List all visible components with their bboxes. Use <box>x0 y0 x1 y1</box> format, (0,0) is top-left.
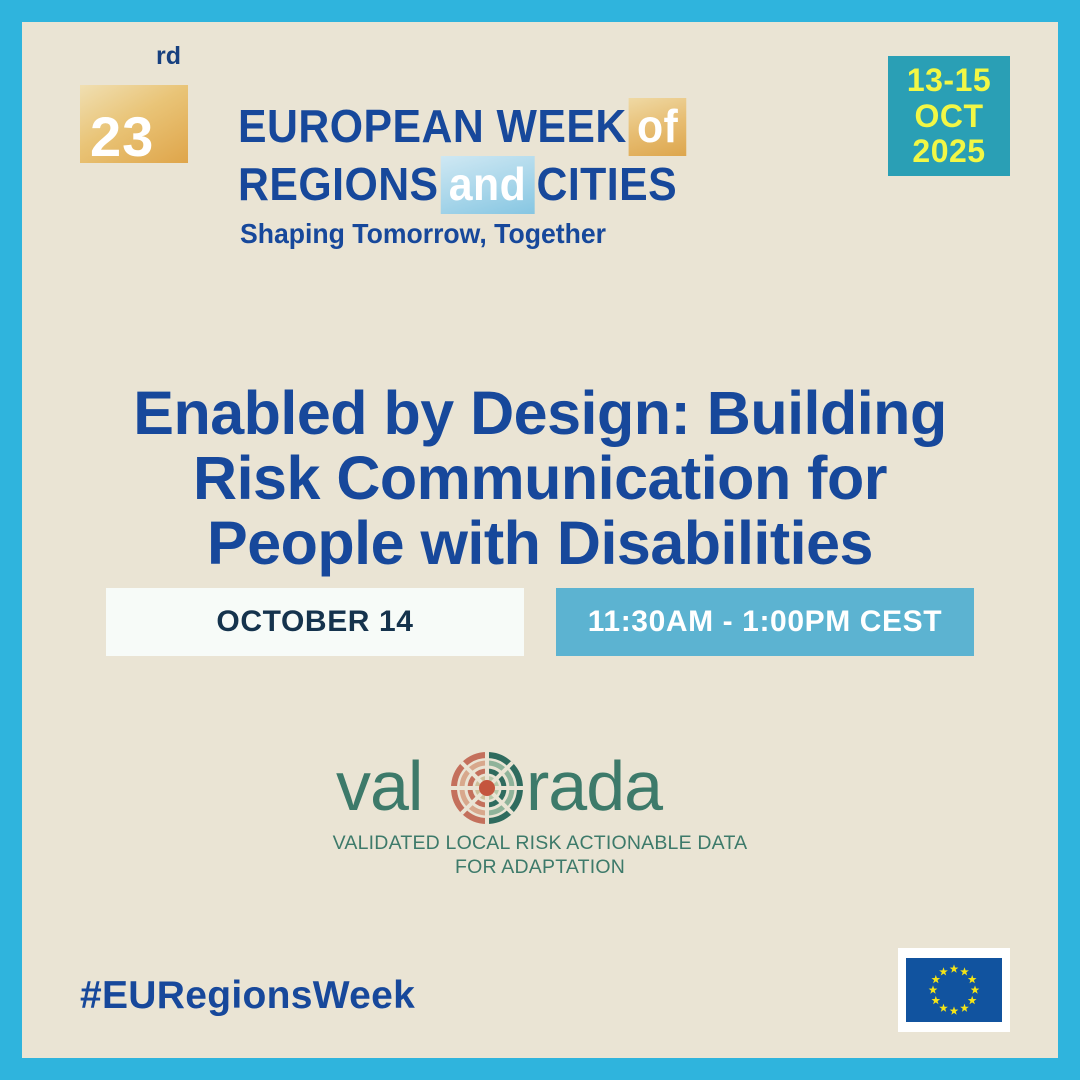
valorada-logo: val rada <box>330 748 750 880</box>
edition-number: 23 <box>90 109 154 165</box>
event-hashtag: #EURegionsWeek <box>80 974 415 1018</box>
svg-text:val: val <box>336 748 422 825</box>
brand-title-text-1: EUROPEAN WEEK <box>238 100 627 152</box>
valorada-tagline-line-2: FOR ADAPTATION <box>330 856 750 880</box>
valorada-wordmark: val rada <box>330 748 750 830</box>
event-dates-days: 13-15 <box>907 63 991 98</box>
brand-title-text-2: REGIONS <box>238 158 439 210</box>
edition-suffix: rd <box>156 44 181 69</box>
session-time-pill: 11:30AM - 1:00PM CEST <box>556 588 974 656</box>
event-branding-header: 23 rd EUROPEAN WEEKof REGIONSandCITIES S… <box>80 50 780 230</box>
event-dates-year: 2025 <box>912 134 985 169</box>
brand-title-text-3: CITIES <box>536 158 677 210</box>
poster-root: 23 rd EUROPEAN WEEKof REGIONSandCITIES S… <box>0 0 1080 1080</box>
session-date-pill: OCTOBER 14 <box>106 588 524 656</box>
valorada-tagline-line-1: VALIDATED LOCAL RISK ACTIONABLE DATA <box>330 832 750 856</box>
radial-mandala-icon <box>451 752 523 824</box>
edition-badge: 23 <box>80 85 188 163</box>
svg-text:rada: rada <box>526 748 663 825</box>
session-info-row: OCTOBER 14 11:30AM - 1:00PM CEST <box>106 588 1026 656</box>
valorada-tagline: VALIDATED LOCAL RISK ACTIONABLE DATA FOR… <box>330 832 750 880</box>
eu-flag-icon <box>898 948 1010 1032</box>
brand-chip-of: of <box>629 98 687 156</box>
brand-title-line-2: REGIONSandCITIES <box>238 156 677 214</box>
eu-flag-svg <box>906 958 1002 1022</box>
session-title: Enabled by Design: Building Risk Communi… <box>100 381 980 577</box>
brand-chip-and: and <box>440 156 534 214</box>
event-dates-badge: 13-15 OCT 2025 <box>888 56 1010 176</box>
event-dates-month: OCT <box>914 99 983 134</box>
poster-canvas: 23 rd EUROPEAN WEEKof REGIONSandCITIES S… <box>22 22 1058 1058</box>
brand-title-line-1: EUROPEAN WEEKof <box>238 98 688 156</box>
brand-tagline: Shaping Tomorrow, Together <box>240 218 606 250</box>
valorada-wordmark-row: val rada <box>330 748 750 830</box>
